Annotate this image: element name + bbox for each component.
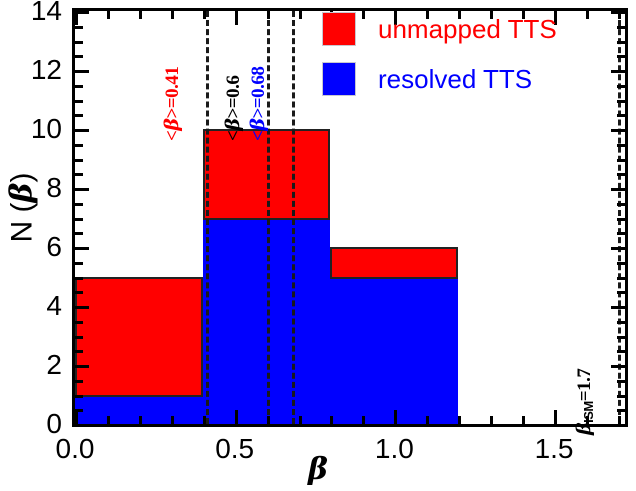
axis-tick [75, 55, 83, 58]
axis-tick [267, 416, 270, 424]
axis-tick [617, 321, 625, 324]
axis-tick [617, 291, 625, 294]
axis-tick [75, 350, 83, 353]
axis-tick [617, 173, 625, 176]
axis-tick [203, 11, 206, 19]
axis-tick [235, 410, 238, 424]
axis-tick [426, 416, 429, 424]
axis-tick [75, 232, 83, 235]
histogram-bar-resolved [330, 277, 458, 425]
reference-line-label-mean-beta-all: <β>=0.6 [222, 76, 245, 141]
axis-tick [75, 173, 83, 176]
axis-tick [554, 410, 557, 424]
axis-tick [75, 336, 83, 339]
axis-tick [75, 247, 89, 250]
axis-tick [75, 395, 83, 398]
axis-tick [522, 416, 525, 424]
axis-tick [107, 416, 110, 424]
axis-tick [586, 11, 589, 19]
axis-tick [75, 159, 83, 162]
axis-tick [617, 203, 625, 206]
y-axis-label: N (β) [5, 128, 40, 288]
reference-line-label-mean-beta-resolved: <β>=0.68 [247, 67, 270, 141]
axis-tick [617, 262, 625, 265]
axis-tick [171, 416, 174, 424]
axis-tick [75, 144, 83, 147]
axis-tick [75, 41, 83, 44]
legend-swatch [322, 12, 356, 46]
axis-tick [618, 416, 621, 424]
axis-tick [75, 70, 89, 73]
axis-tick [617, 159, 625, 162]
axis-tick [75, 203, 83, 206]
axis-tick [362, 416, 365, 424]
axis-tick [75, 291, 83, 294]
axis-tick [203, 416, 206, 424]
axis-tick [617, 218, 625, 221]
axis-tick [75, 188, 89, 191]
axis-tick [617, 350, 625, 353]
axis-tick [267, 11, 270, 19]
axis-tick [75, 365, 89, 368]
axis-tick [75, 114, 83, 117]
y-tick-label: 4 [0, 290, 62, 322]
reference-line-label-beta-ism: βISM=1.7 [573, 369, 596, 435]
axis-tick [617, 409, 625, 412]
axis-tick [617, 144, 625, 147]
axis-tick [617, 277, 625, 280]
axis-tick [458, 416, 461, 424]
axis-tick [617, 100, 625, 103]
axis-tick [617, 85, 625, 88]
axis-tick [75, 380, 83, 383]
axis-tick [75, 100, 83, 103]
axis-tick [139, 416, 142, 424]
legend-entry: unmapped TTS [322, 12, 557, 46]
axis-tick [75, 11, 89, 14]
axis-tick [617, 232, 625, 235]
axis-tick [75, 277, 83, 280]
legend-label: resolved TTS [378, 64, 532, 95]
axis-tick [617, 395, 625, 398]
axis-tick [75, 321, 83, 324]
y-tick-label: 0 [0, 408, 62, 440]
legend-entry: resolved TTS [322, 62, 557, 96]
legend-label: unmapped TTS [378, 14, 557, 45]
axis-tick [611, 365, 625, 368]
axis-tick [611, 247, 625, 250]
axis-tick [171, 11, 174, 19]
axis-tick [330, 416, 333, 424]
axis-tick [107, 11, 110, 19]
reference-line-mean-beta-unmapped [206, 11, 209, 424]
y-tick-label: 12 [0, 54, 62, 86]
axis-tick [75, 306, 89, 309]
axis-tick [617, 41, 625, 44]
axis-tick [611, 129, 625, 132]
reference-line-label-mean-beta-unmapped: <β>=0.41 [161, 67, 184, 141]
axis-tick [75, 26, 83, 29]
axis-tick [617, 114, 625, 117]
axis-tick [75, 409, 83, 412]
axis-tick [617, 26, 625, 29]
axis-tick [235, 11, 238, 25]
axis-tick [75, 129, 89, 132]
legend-swatch [322, 62, 356, 96]
axis-tick [490, 416, 493, 424]
axis-tick [611, 11, 625, 14]
y-tick-label: 2 [0, 349, 62, 381]
axis-tick [75, 262, 83, 265]
axis-tick [394, 410, 397, 424]
axis-tick [139, 11, 142, 19]
axis-tick [299, 11, 302, 19]
axis-tick [75, 85, 83, 88]
x-axis-label: β [0, 452, 636, 487]
axis-tick [75, 218, 83, 221]
axis-tick [617, 336, 625, 339]
reference-line-mean-beta-resolved [292, 11, 295, 424]
axis-tick [617, 55, 625, 58]
y-tick-label: 14 [0, 0, 62, 27]
histogram-figure: <β>=0.41<β>=0.6<β>=0.68βISM=1.7 0.00.51.… [0, 0, 636, 491]
legend: unmapped TTSresolved TTS [322, 12, 557, 112]
axis-tick [611, 70, 625, 73]
axis-tick [611, 188, 625, 191]
axis-tick [611, 306, 625, 309]
axis-tick [617, 380, 625, 383]
axis-tick [299, 416, 302, 424]
